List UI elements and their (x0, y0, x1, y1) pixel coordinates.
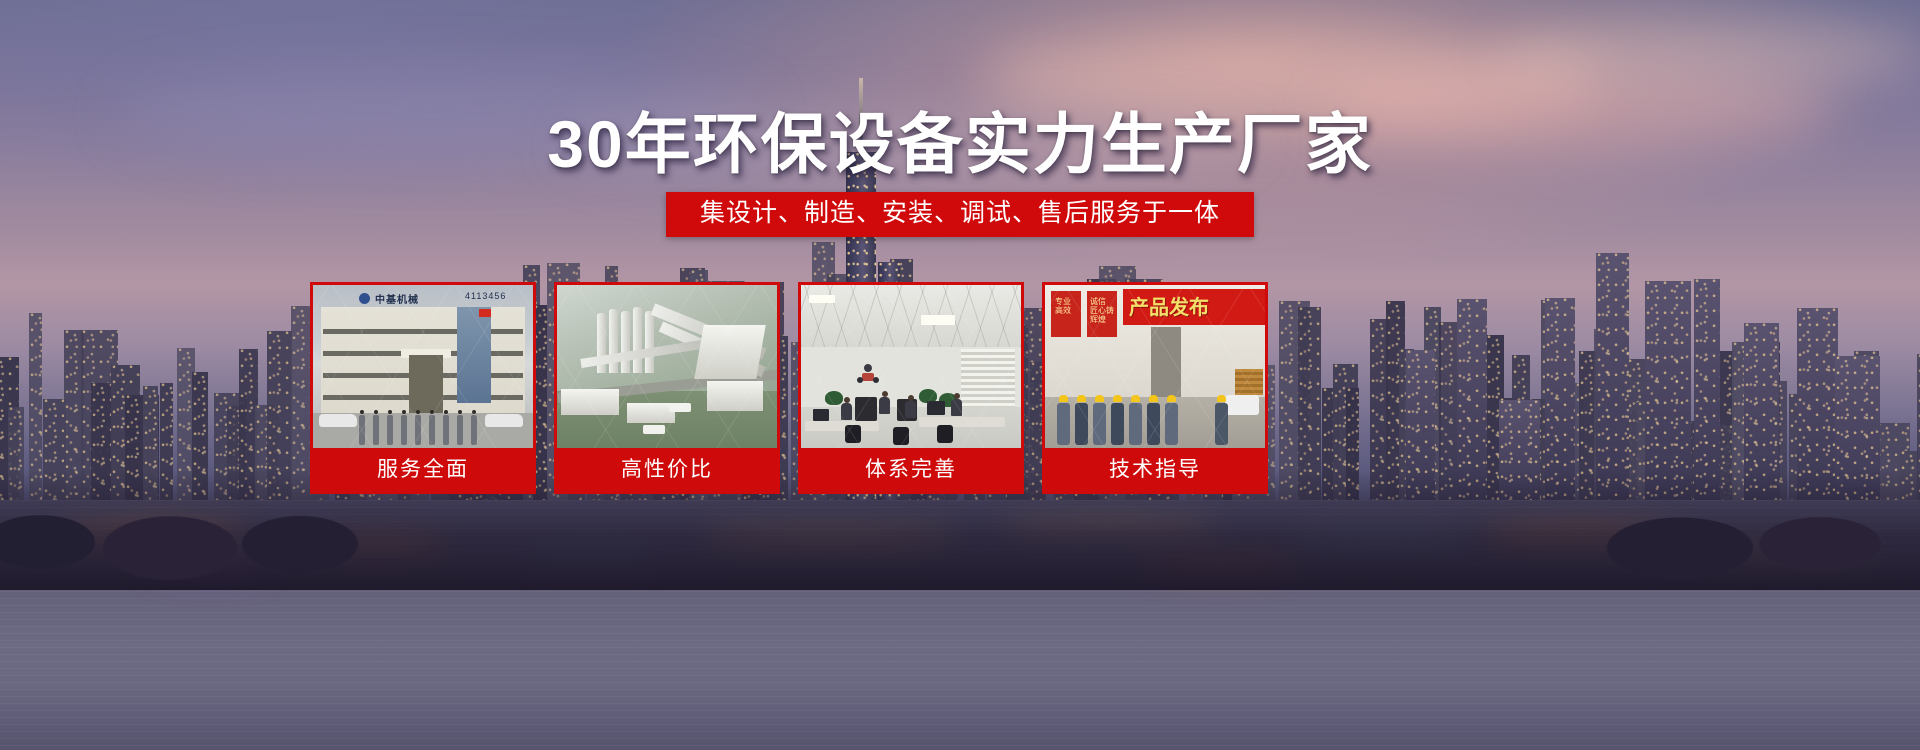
card-photo-workshop: 产品发布 专业 高效 诚信 匠心铸辉煌 (1045, 285, 1265, 451)
card-label: 服务全面 (313, 448, 533, 491)
subtitle-container: 集设计、制造、安装、调试、售后服务于一体 (0, 192, 1920, 237)
feature-card: 体系完善 (798, 282, 1024, 494)
feature-card[interactable]: 高性价比 (554, 282, 780, 494)
company-logo-icon (359, 293, 370, 304)
workshop-strip-left-text: 专业 高效 (1055, 297, 1079, 315)
feature-card[interactable]: 中基机械 4113456 服务全面 (310, 282, 536, 494)
workshop-banner-text: 产品发布 (1129, 291, 1209, 320)
feature-card[interactable]: 产品发布 专业 高效 诚信 匠心铸辉煌 技术指导 (1042, 282, 1268, 494)
page-title: 30年环保设备实力生产厂家 (0, 104, 1920, 184)
card-label: 技术指导 (1045, 448, 1265, 491)
wall-decal-icon (853, 361, 883, 387)
subtitle-banner: 集设计、制造、安装、调试、售后服务于一体 (666, 192, 1254, 237)
card-photo-office-interior (801, 285, 1021, 451)
card-photo-company-building: 中基机械 4113456 (313, 285, 533, 451)
workshop-strip-right-text: 诚信 匠心铸辉煌 (1090, 297, 1116, 324)
card-label: 体系完善 (801, 448, 1021, 491)
hero-banner: 30年环保设备实力生产厂家 集设计、制造、安装、调试、售后服务于一体 中基机械 … (0, 0, 1920, 750)
building-sign-text: 中基机械 (375, 291, 419, 306)
building-phone-text: 4113456 (465, 291, 506, 301)
card-label: 高性价比 (557, 448, 777, 491)
card-photo-production-plant (557, 285, 777, 451)
feature-card-list: 中基机械 4113456 服务全面 (310, 282, 1610, 496)
